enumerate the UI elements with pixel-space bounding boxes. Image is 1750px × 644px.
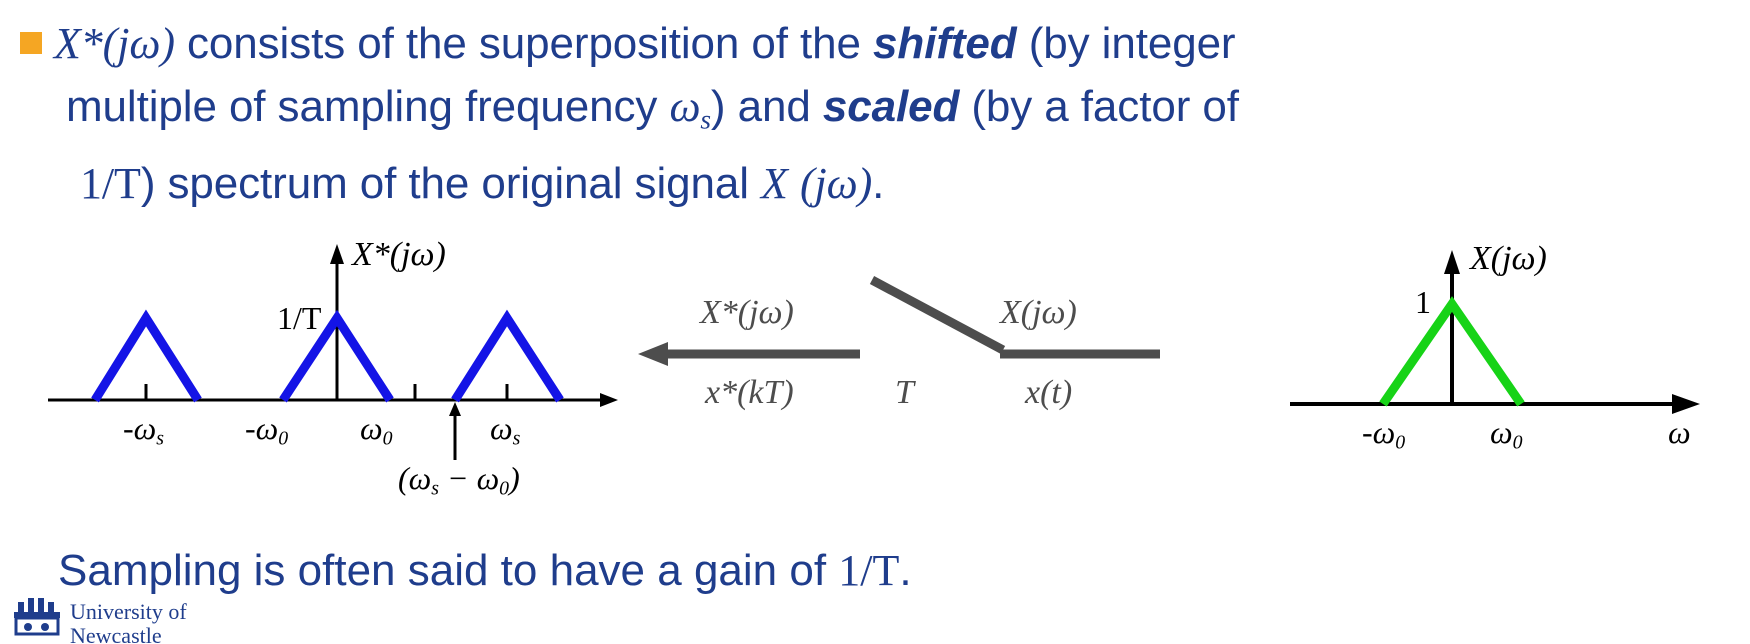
bottom-text-post: . [899,546,911,595]
left-plot-y-axis-label: X*(jω) [352,236,446,274]
bullet-line2-seg2: ) and [711,82,823,131]
logo-line-2: Newcastle [70,624,187,644]
left-plot-tick-label-minus-ws: -ωs [123,410,164,451]
middle-input-top-label: X(jω) [1000,294,1077,332]
bottom-statement-text: Sampling is often said to have a gain of… [58,545,912,597]
tick-w0-sub: 0 [383,428,393,450]
bottom-math-one-over-t: 1/T [838,546,899,595]
right-tick-w0-base: ω [1490,414,1513,450]
annotation-open-paren: ( [398,460,409,496]
tick-ws-sub: s [513,428,521,450]
tick-w0-base: ω [360,410,383,446]
bullet-line2-seg3: (by a factor of [959,82,1239,131]
middle-arrow-top-label: X*(jω) [700,294,794,332]
annotation-ws-sub: s [431,478,439,500]
middle-arrow-bottom-label: x*(kT) [705,374,794,412]
left-plot-tick-label-minus-w0: -ω0 [245,410,288,451]
right-plot-tick-label-w0: ω0 [1490,414,1523,455]
left-plot-traces [95,318,560,400]
right-plot-peak-label: 1 [1415,284,1431,321]
bullet-line3-period: . [872,159,884,208]
logo-line-1: University of [70,600,187,624]
left-plot-peak-label: 1/T [277,300,321,337]
tick-minus-w0-sub: 0 [278,428,288,450]
left-plot-tick-label-w0: ω0 [360,410,393,451]
logo-text-block: University of Newcastle [70,600,187,644]
left-plot-tick-label-ws: ωs [490,410,520,451]
emphasis-scaled: scaled [823,82,959,131]
right-plot-y-axis-label: X(jω) [1470,240,1547,278]
tick-minus-ws-base: -ω [123,410,156,446]
bullet-line3-space [788,159,800,208]
university-logo: University of Newcastle [12,592,242,644]
right-plot-tick-label-minus-w0: -ω0 [1362,414,1405,455]
annotation-w0-sub: 0 [499,478,509,500]
annotation-close-paren: ) [509,460,520,496]
bullet-paragraph-text: X*(jω) consists of the superposition of … [54,12,1714,215]
right-tick-minus-w0-base: -ω [1362,414,1395,450]
math-omega-s-subscript: s [700,105,711,135]
math-capital-x: X [761,159,788,208]
bullet-line1-seg2: (by integer [1017,19,1236,68]
right-plot-x-axis-label: ω [1668,414,1691,451]
right-tick-minus-w0-sub: 0 [1395,432,1405,454]
square-bullet-icon [20,32,42,54]
math-omega-s: ω [669,82,700,131]
tick-minus-ws-sub: s [156,428,164,450]
right-tick-w0-sub: 0 [1513,432,1523,454]
sampling-period-label: T [895,374,914,412]
annotation-w0-base: ω [477,460,500,496]
math-x-star-jomega: X*(jω) [54,19,175,68]
math-jomega: (jω) [800,159,872,208]
shift-callout-arrow [449,402,461,460]
emphasis-shifted: shifted [873,19,1017,68]
annotation-ws-base: ω [409,460,432,496]
left-plot-shift-annotation: (ωs − ω0) [398,460,520,501]
math-one-over-t: 1/T [80,159,141,208]
bullet-line1-seg1: consists of the superposition of the [175,19,873,68]
annotation-minus: − [439,460,477,496]
bottom-text-pre: Sampling is often said to have a gain of [58,546,838,595]
castle-crest-icon [12,592,62,640]
bullet-line2-seg1: multiple of sampling frequency [66,82,669,131]
middle-input-bottom-label: x(t) [1025,374,1072,412]
tick-minus-w0-base: -ω [245,410,278,446]
tick-ws-base: ω [490,410,513,446]
sampling-spectrum-figure: X*(jω) 1/T -ωs -ω0 ω0 ωs (ωs − ω0) X*(jω… [0,232,1750,532]
bullet-line3-seg1: ) spectrum of the original signal [141,159,761,208]
